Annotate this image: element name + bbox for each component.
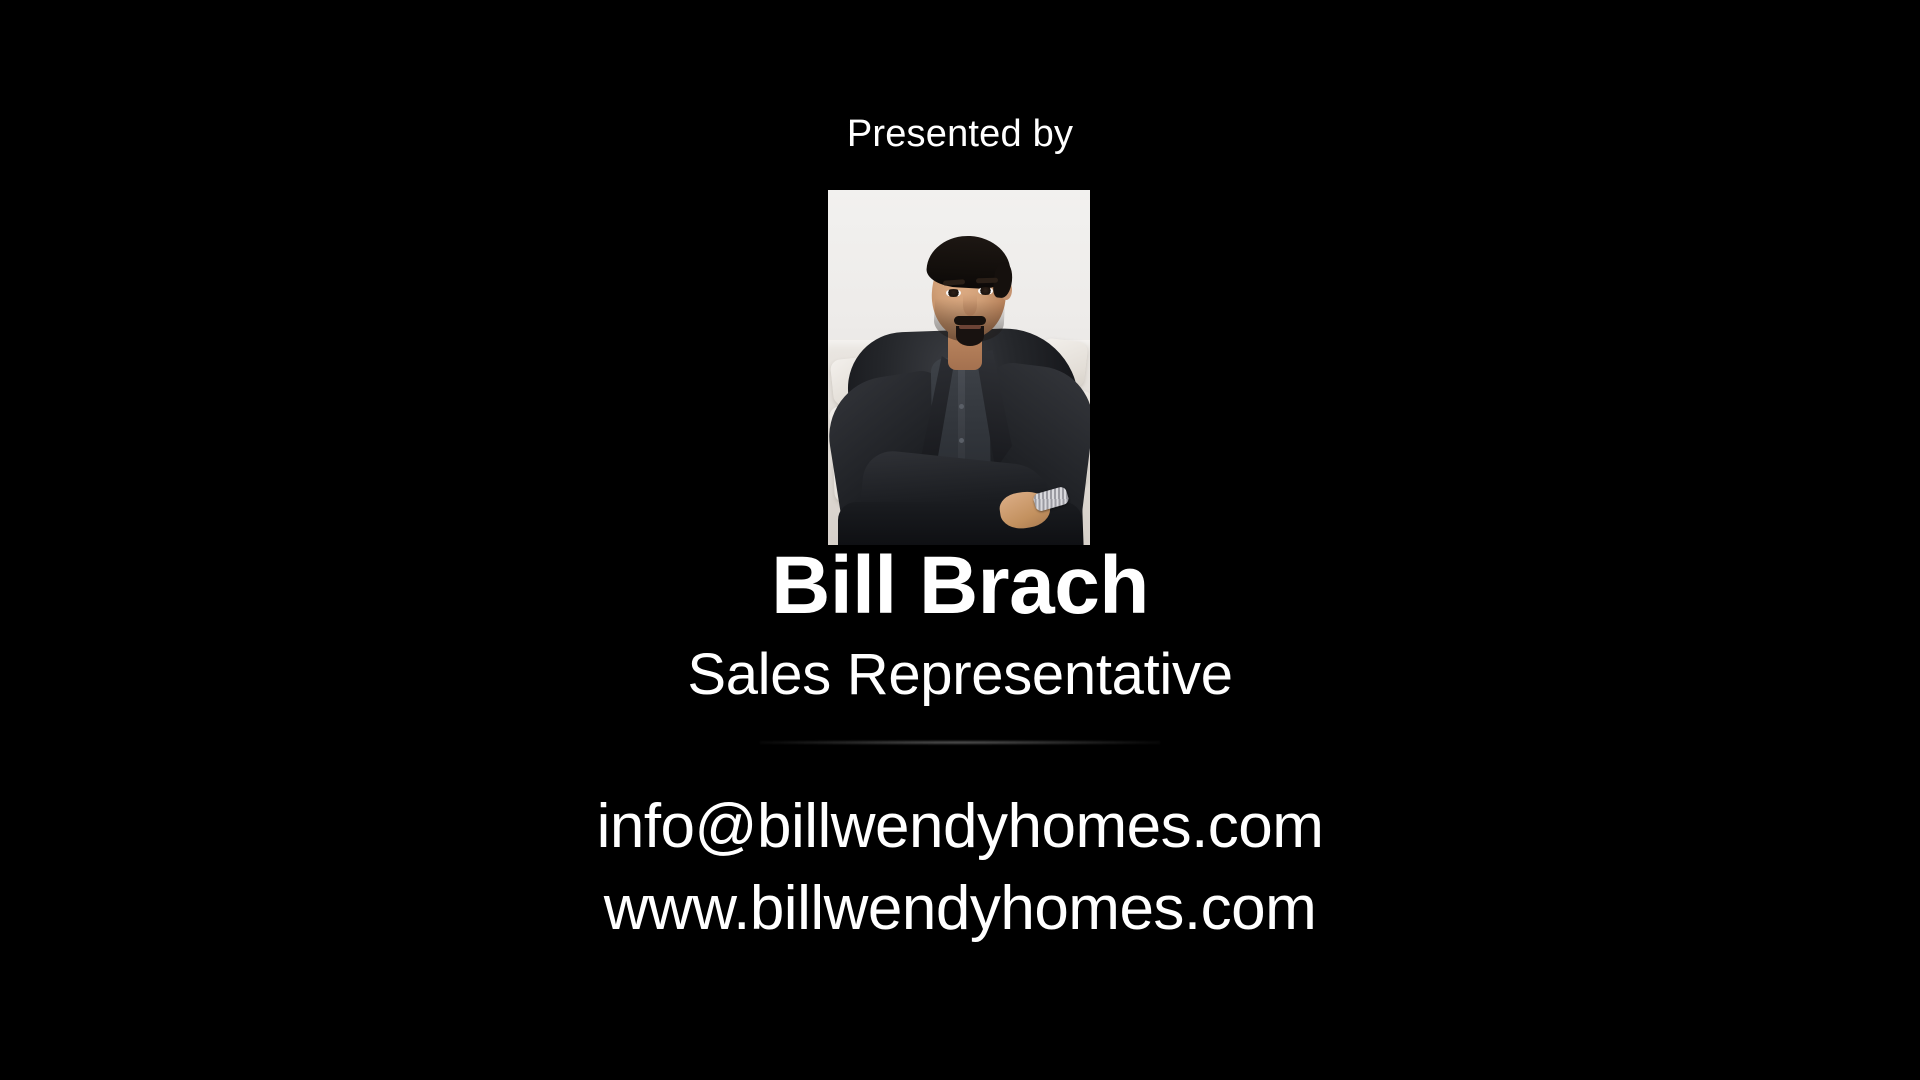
person-name: Bill Brach: [0, 543, 1920, 629]
presented-by-label: Presented by: [0, 112, 1920, 158]
portrait-photo-frame: [828, 190, 1090, 545]
presentation-slide: Presented by: [0, 0, 1920, 1080]
person-role: Sales Representative: [0, 643, 1920, 707]
contact-email[interactable]: info@billwendyhomes.com: [0, 786, 1920, 868]
subject-eye: [946, 289, 961, 297]
portrait-photo: [828, 190, 1090, 545]
subject-mouth: [959, 325, 981, 329]
section-divider: [760, 740, 1160, 745]
subject-goatee: [956, 326, 984, 346]
shirt-button: [959, 438, 964, 443]
subject-nose: [963, 294, 977, 316]
subject-eyebrow: [976, 278, 998, 284]
contact-block: info@billwendyhomes.com www.billwendyhom…: [0, 786, 1920, 950]
contact-website[interactable]: www.billwendyhomes.com: [0, 868, 1920, 950]
subject-eye: [978, 287, 993, 295]
shirt-button: [959, 404, 964, 409]
subject-moustache: [954, 316, 986, 325]
